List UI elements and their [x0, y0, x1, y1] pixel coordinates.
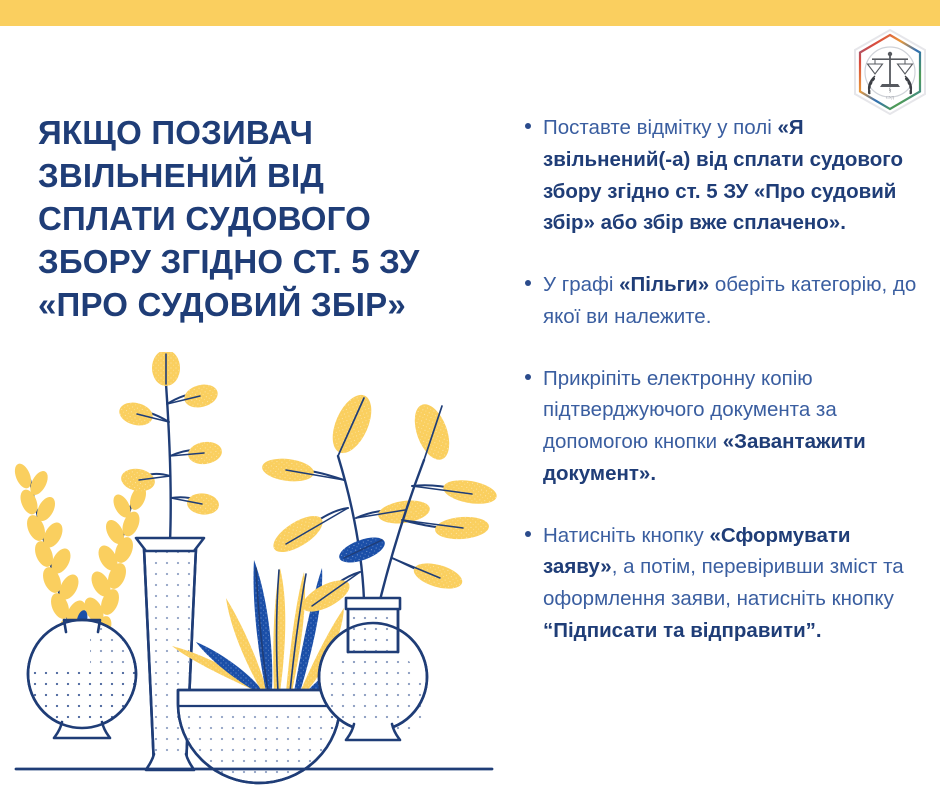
court-of-justice-emblem-icon: § СУД	[845, 26, 935, 118]
bullet-icon	[525, 363, 543, 380]
infographic-page: § СУД ЯКЩО ПОЗИВАЧ ЗВІЛЬНЕНИЙ ВІД СПЛАТИ…	[0, 0, 940, 788]
step-submit-text: Натисніть кнопку «Сформувати заяву», а п…	[543, 520, 925, 647]
svg-text:§: §	[889, 88, 892, 94]
list-item-step-submit: Натисніть кнопку «Сформувати заяву», а п…	[525, 520, 925, 647]
bullet-icon	[525, 520, 543, 537]
list-item-step-benefits-field: У графі «Пільги» оберіть категорію, до я…	[525, 269, 925, 333]
vases-with-plants-illustration	[0, 352, 500, 788]
svg-text:СУД: СУД	[886, 95, 894, 100]
top-gold-bar	[0, 0, 940, 26]
list-item-step-checkbox: Поставте відмітку у полі «Я звільнений(-…	[525, 112, 925, 239]
page-title: ЯКЩО ПОЗИВАЧ ЗВІЛЬНЕНИЙ ВІД СПЛАТИ СУДОВ…	[38, 112, 518, 326]
round-vase	[28, 620, 140, 738]
bullet-icon	[525, 112, 543, 129]
step-benefits-field-text: У графі «Пільги» оберіть категорію, до я…	[543, 269, 925, 333]
bulb-vase	[319, 598, 430, 740]
leafy-branch-right	[261, 389, 499, 618]
list-item-step-attach-document: Прикріпіть електронну копію підтверджуюч…	[525, 363, 925, 490]
step-attach-document-text: Прикріпіть електронну копію підтверджуюч…	[543, 363, 925, 490]
steps-list: Поставте відмітку у полі «Я звільнений(-…	[525, 112, 925, 647]
step-checkbox-text: Поставте відмітку у полі «Я звільнений(-…	[543, 112, 925, 239]
bullet-icon	[525, 269, 543, 286]
